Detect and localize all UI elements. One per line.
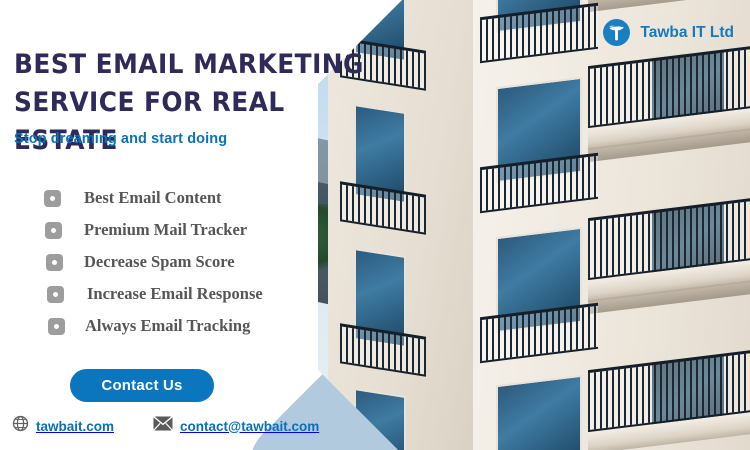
bullet-marker-icon	[46, 254, 63, 271]
brand-name: Tawba IT Ltd	[640, 24, 734, 42]
feature-label: Premium Mail Tracker	[84, 220, 247, 240]
email-link[interactable]: contact@tawbait.com	[153, 416, 319, 436]
feature-label: Best Email Content	[84, 188, 222, 208]
bullet-marker-icon	[48, 318, 65, 335]
feature-label: Always Email Tracking	[85, 316, 250, 336]
envelope-icon	[153, 416, 173, 436]
tawba-t-logo-icon	[603, 19, 630, 46]
feature-list: Best Email Content Premium Mail Tracker …	[44, 182, 384, 342]
marketing-banner: Tawba IT Ltd BEST EMAIL MARKETING SERVIC…	[0, 0, 750, 450]
brand-logo[interactable]: Tawba IT Ltd	[603, 19, 734, 46]
contact-us-button[interactable]: Contact Us	[70, 369, 214, 402]
contact-bar: tawbait.com contact@tawbait.com	[12, 415, 319, 437]
bullet-marker-icon	[45, 222, 62, 239]
website-link[interactable]: tawbait.com	[12, 415, 114, 437]
feature-label: Increase Email Response	[87, 284, 263, 304]
subheadline: Stop dreaming and start doing	[14, 131, 227, 147]
list-item: Increase Email Response	[47, 278, 384, 310]
list-item: Premium Mail Tracker	[45, 214, 384, 246]
email-text: contact@tawbait.com	[180, 419, 319, 434]
list-item: Always Email Tracking	[48, 310, 384, 342]
content-column: BEST EMAIL MARKETING SERVICE FOR REAL ES…	[0, 0, 420, 450]
list-item: Best Email Content	[44, 182, 384, 214]
feature-label: Decrease Spam Score	[84, 252, 235, 272]
website-text: tawbait.com	[36, 419, 114, 434]
bullet-marker-icon	[44, 190, 61, 207]
globe-icon	[12, 415, 29, 437]
bullet-marker-icon	[47, 286, 64, 303]
list-item: Decrease Spam Score	[46, 246, 384, 278]
